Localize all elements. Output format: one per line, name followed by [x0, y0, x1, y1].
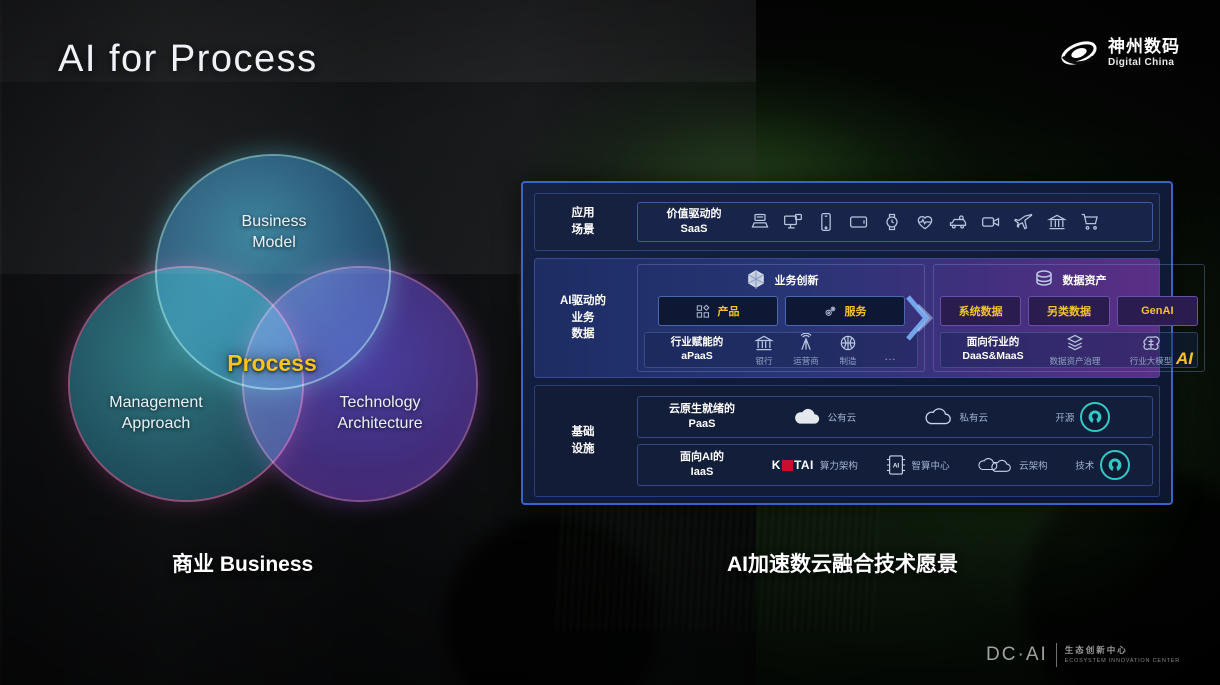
slide-root: AI for Process 神州数码 Digital China Busine… — [0, 0, 1220, 685]
bank-icon — [1047, 212, 1067, 232]
kuntai-logo-square — [782, 460, 793, 471]
brand-name-en: Digital China — [1108, 58, 1180, 68]
infra-item-label: 开源 — [1055, 410, 1074, 424]
row-label-line: 设施 — [572, 441, 595, 458]
industry-item-label: 运营商 — [793, 355, 819, 367]
lead-line: PaaS — [646, 417, 758, 432]
car-icon — [948, 212, 968, 232]
row-label-line: 基础 — [572, 424, 595, 441]
open-source-glyph — [1087, 409, 1103, 425]
group-heading-text: 业务创新 — [775, 272, 819, 288]
group-heading-business-innovation: 业务创新 — [644, 270, 918, 290]
ai-badge: AI — [1176, 349, 1193, 369]
layered-data-icon — [1065, 333, 1085, 353]
venn-label-line: Technology — [310, 393, 450, 414]
infra-item-private-cloud: 私有云 — [923, 407, 988, 427]
chip-genai[interactable]: GenAI — [1117, 296, 1198, 326]
lead-line: DaaS&MaaS — [947, 350, 1039, 364]
smartphone-icon — [816, 212, 836, 232]
infra-item-kuntai: K TAI 算力架构 — [772, 458, 858, 472]
row-body-ai-driven-business-data: 业务创新 产品 — [631, 259, 1211, 377]
shopping-cart-icon — [1080, 212, 1100, 232]
multi-cloud-icon — [977, 455, 1013, 475]
lead-line: 行业赋能的 — [651, 336, 743, 350]
row-label-infrastructure: 基础 设施 — [535, 386, 631, 496]
kuntai-logo: K TAI — [772, 458, 814, 472]
venn-label-line: Business — [219, 212, 329, 233]
subgroup-lead-daas-maas: 面向行业的 DaaS&MaaS — [947, 336, 1039, 363]
venn-label-line: Management — [86, 393, 226, 414]
industry-item-more: … — [869, 337, 911, 363]
group-heading-data-assets: 数据资产 — [940, 270, 1198, 290]
infra-line-paas: 云原生就绪的 PaaS 公有云 — [637, 396, 1153, 438]
svg-text:AI: AI — [892, 463, 899, 470]
infra-item-open-source: 开源 — [1055, 402, 1110, 432]
cube-cluster-icon — [744, 268, 768, 292]
watermark-name-en: ECOSYSTEM INNOVATION CENTER — [1065, 658, 1180, 664]
chip-alternative-data[interactable]: 另类数据 — [1028, 296, 1109, 326]
ai-server-icon: AI — [886, 454, 906, 476]
panel-row-application-scenarios: 应用 场景 价值驱动的 SaaS — [534, 193, 1160, 251]
industry-item-telecom: 运营商 — [785, 333, 827, 367]
group-heading-text: 数据资产 — [1063, 272, 1107, 288]
row-label-line: 场景 — [572, 222, 595, 239]
tag-line: 价值驱动的 — [646, 207, 742, 222]
subgroup-apaas: 行业赋能的 aPaaS 银行 运营商 — [644, 332, 918, 368]
gears-icon — [823, 304, 838, 319]
venn-label-business-model: Business Model — [219, 212, 329, 254]
venn-diagram: Business Model Management Approach Techn… — [62, 150, 462, 510]
watermark-mark: DC·AI — [986, 644, 1048, 666]
tablet-icon — [849, 212, 869, 232]
product-blocks-icon — [696, 304, 711, 319]
industry-item-label: 银行 — [755, 355, 772, 367]
cloud-outline-icon — [923, 407, 953, 427]
kuntai-logo-b: TAI — [794, 458, 814, 472]
chip-row-business-innovation: 产品 服务 — [644, 296, 918, 326]
chip-label: 另类数据 — [1047, 303, 1091, 319]
infra-item-label: 公有云 — [828, 410, 857, 424]
row-label-ai-driven-business-data: AI驱动的 业务 数据 — [535, 259, 631, 377]
group-business-innovation: 业务创新 产品 — [637, 264, 925, 372]
row-label-line: 应用 — [572, 205, 595, 222]
smartwatch-icon — [882, 212, 902, 232]
data-item-label: 行业大模型 — [1130, 355, 1173, 367]
venn-label-technology-architecture: Technology Architecture — [310, 393, 450, 435]
data-item-governance: 数据资产治理 — [1039, 333, 1111, 367]
desktop-monitor-icon — [783, 212, 803, 232]
antenna-tower-icon — [796, 333, 816, 353]
watermark-name-cn: 生态创新中心 — [1065, 646, 1180, 656]
chip-label: 服务 — [845, 303, 867, 319]
lead-line: 面向AI的 — [646, 450, 758, 465]
gear-globe-icon — [838, 333, 858, 353]
chip-label: GenAI — [1141, 305, 1173, 317]
footer-watermark: DC·AI 生态创新中心 ECOSYSTEM INNOVATION CENTER — [986, 643, 1180, 667]
row-body-application-scenarios: 价值驱动的 SaaS — [631, 194, 1159, 250]
chip-product[interactable]: 产品 — [658, 296, 778, 326]
industry-item-label: 制造 — [839, 355, 856, 367]
data-item-industry-llm: 行业大模型 AI — [1111, 333, 1191, 367]
venn-circle-technology-architecture — [244, 268, 476, 500]
row-label-line: AI驱动的 — [560, 293, 606, 310]
panel-row-ai-driven-business-data: AI驱动的 业务 数据 业务创新 — [534, 258, 1160, 378]
infra-item-label: 智算中心 — [912, 458, 950, 472]
cloud-filled-icon — [792, 407, 822, 427]
database-icon — [1032, 268, 1056, 292]
venn-label-line: Model — [219, 233, 329, 254]
infra-line-iaas: 面向AI的 IaaS K TAI 算力架构 — [637, 444, 1153, 486]
venn-label-process: Process — [192, 350, 352, 377]
galaxy-swirl-icon — [1060, 36, 1098, 70]
chip-service[interactable]: 服务 — [785, 296, 905, 326]
kuntai-logo-a: K — [772, 458, 781, 472]
architecture-panel: 应用 场景 价值驱动的 SaaS — [521, 181, 1173, 505]
infra-item-public-cloud: 公有云 — [792, 407, 857, 427]
open-source-icon — [1100, 450, 1130, 480]
infra-lead-iaas: 面向AI的 IaaS — [646, 450, 758, 480]
subgroup-daas-maas: 面向行业的 DaaS&MaaS 数据资产治理 行业大模型 AI — [940, 332, 1198, 368]
row-label-line: 数据 — [560, 326, 606, 343]
subgroup-lead-apaas: 行业赋能的 aPaaS — [651, 336, 743, 363]
infra-lead-paas: 云原生就绪的 PaaS — [646, 402, 758, 432]
row-body-infrastructure: 云原生就绪的 PaaS 公有云 — [631, 386, 1159, 496]
airplane-icon — [1014, 212, 1034, 232]
heartbeat-icon — [915, 212, 935, 232]
infra-item-label: 私有云 — [959, 410, 988, 424]
chip-row-data-assets: 系统数据 另类数据 GenAI — [940, 296, 1198, 326]
row-label-application-scenarios: 应用 场景 — [535, 194, 631, 250]
brand-logo: 神州数码 Digital China — [1060, 36, 1180, 70]
infra-item-technology: 技术 — [1075, 450, 1130, 480]
venn-label-management-approach: Management Approach — [86, 393, 226, 435]
lead-line: IaaS — [646, 465, 758, 480]
venn-label-line: Architecture — [310, 414, 450, 435]
infra-item-ai-compute-center: AI 智算中心 — [886, 454, 950, 476]
brand-name-cn: 神州数码 — [1108, 38, 1180, 55]
row-label-line: 业务 — [560, 310, 606, 327]
bank-icon — [754, 333, 774, 353]
video-camera-icon — [981, 212, 1001, 232]
caption-right: AI加速数云融合技术愿景 — [727, 548, 958, 578]
data-item-label: 数据资产治理 — [1049, 355, 1100, 367]
caption-left: 商业 Business — [172, 548, 313, 578]
tag-line: SaaS — [646, 222, 742, 237]
scenario-icon-row — [742, 212, 1144, 232]
laptop-printer-icon — [750, 212, 770, 232]
brain-network-icon — [1141, 333, 1161, 353]
industry-item-manufacturing: 制造 — [827, 333, 869, 367]
page-title: AI for Process — [58, 38, 318, 81]
lead-line: 面向行业的 — [947, 336, 1039, 350]
open-source-glyph — [1107, 457, 1123, 473]
lead-line: 云原生就绪的 — [646, 402, 758, 417]
industry-item-bank: 银行 — [743, 333, 785, 367]
chip-system-data[interactable]: 系统数据 — [940, 296, 1021, 326]
infra-item-label: 技术 — [1075, 458, 1094, 472]
infra-item-cloud-architecture: 云架构 — [977, 455, 1048, 475]
venn-label-line: Approach — [86, 414, 226, 435]
group-data-assets: 数据资产 系统数据 另类数据 GenAI — [933, 264, 1205, 372]
chip-label: 系统数据 — [959, 303, 1003, 319]
tag-value-driven-saas: 价值驱动的 SaaS — [646, 207, 742, 237]
infra-item-label: 云架构 — [1019, 458, 1048, 472]
open-source-icon — [1080, 402, 1110, 432]
watermark-divider — [1056, 643, 1057, 667]
lead-line: aPaaS — [651, 350, 743, 364]
infra-item-label: 算力架构 — [820, 458, 858, 472]
ellipsis-icon: … — [884, 349, 896, 363]
chip-label: 产品 — [718, 303, 740, 319]
panel-row-infrastructure: 基础 设施 云原生就绪的 PaaS 公有云 — [534, 385, 1160, 497]
